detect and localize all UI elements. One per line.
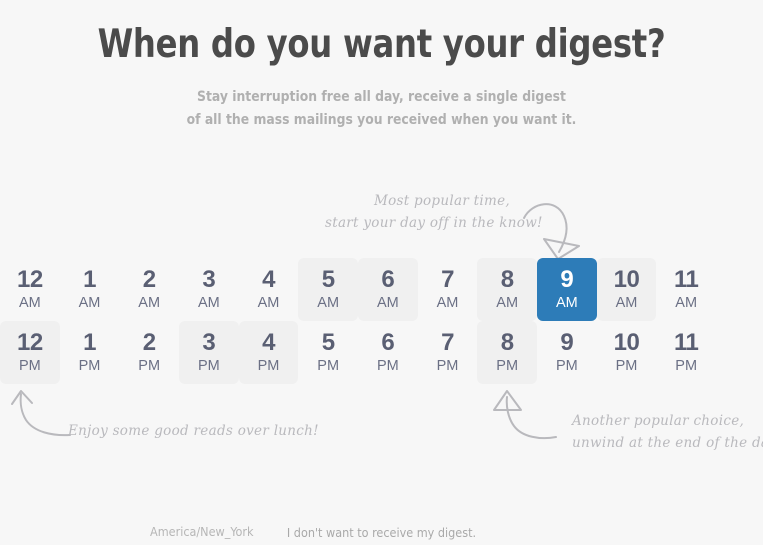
hour-cell-8am[interactable]: 8 AM (477, 258, 537, 321)
hour-cell-4pm[interactable]: 4 PM (239, 321, 299, 384)
hour-cell-12am[interactable]: 12 AM (0, 258, 60, 321)
digest-time-picker-page: When do you want your digest? Stay inter… (0, 0, 763, 545)
hour-cell-5am[interactable]: 5 AM (298, 258, 358, 321)
hour-meridiem: PM (496, 356, 518, 375)
hour-cell-2pm[interactable]: 2 PM (119, 321, 179, 384)
hour-meridiem: PM (19, 356, 41, 375)
hour-number: 1 (83, 330, 96, 356)
annotation-most-popular-line-1: Most popular time, (325, 190, 510, 212)
hour-number: 2 (143, 267, 156, 293)
hour-meridiem: AM (138, 293, 160, 312)
hour-cell-7am[interactable]: 7 AM (418, 258, 478, 321)
hour-number: 9 (560, 330, 573, 356)
hour-meridiem: PM (616, 356, 638, 375)
hour-number: 10 (614, 267, 640, 293)
curved-arrow-up-icon (484, 388, 560, 446)
hour-meridiem: PM (317, 356, 339, 375)
hour-meridiem: PM (437, 356, 459, 375)
hour-number: 3 (202, 330, 215, 356)
hour-cell-3am[interactable]: 3 AM (179, 258, 239, 321)
hour-cell-11pm[interactable]: 11 PM (656, 321, 716, 384)
hour-meridiem: AM (79, 293, 101, 312)
annotation-lunch: Enjoy some good reads over lunch! (68, 420, 319, 442)
hour-cell-6am[interactable]: 6 AM (358, 258, 418, 321)
hour-meridiem: AM (496, 293, 518, 312)
decline-digest-link[interactable]: I don't want to receive my digest. (0, 525, 763, 540)
annotation-evening: Another popular choice, unwind at the en… (572, 410, 763, 454)
hour-meridiem: PM (377, 356, 399, 375)
hour-number: 8 (501, 267, 514, 293)
hour-meridiem: PM (556, 356, 578, 375)
hour-meridiem: AM (19, 293, 41, 312)
hour-cell-12pm[interactable]: 12 PM (0, 321, 60, 384)
hour-number: 1 (83, 267, 96, 293)
hour-cell-10pm[interactable]: 10 PM (597, 321, 657, 384)
hour-meridiem: AM (556, 293, 578, 312)
hour-number: 9 (560, 267, 573, 293)
hour-meridiem: AM (377, 293, 399, 312)
hour-cell-4am[interactable]: 4 AM (239, 258, 299, 321)
hour-number: 4 (262, 330, 275, 356)
annotation-evening-line-2: unwind at the end of the day. (572, 432, 763, 454)
hour-number: 4 (262, 267, 275, 293)
hour-meridiem: AM (437, 293, 459, 312)
curved-arrow-up-left-icon (8, 388, 74, 444)
hour-number: 7 (441, 330, 454, 356)
hour-number: 7 (441, 267, 454, 293)
hour-number: 8 (501, 330, 514, 356)
annotation-lunch-line-1: Enjoy some good reads over lunch! (68, 420, 319, 442)
footer: America/New_York I don't want to receive… (0, 524, 763, 545)
hour-meridiem: AM (198, 293, 220, 312)
hour-meridiem: AM (317, 293, 339, 312)
page-subtitle: Stay interruption free all day, receive … (19, 68, 744, 132)
hour-meridiem: AM (616, 293, 638, 312)
subtitle-line-1: Stay interruption free all day, receive … (19, 86, 744, 109)
hour-meridiem: PM (138, 356, 160, 375)
hour-cell-9pm[interactable]: 9 PM (537, 321, 597, 384)
hour-cell-11am[interactable]: 11 AM (656, 258, 716, 321)
page-title: When do you want your digest? (31, 0, 733, 68)
subtitle-line-2: of all the mass mailings you received wh… (19, 109, 744, 132)
hour-meridiem: PM (675, 356, 697, 375)
header: When do you want your digest? Stay inter… (0, 0, 763, 132)
hour-number: 12 (17, 267, 43, 293)
hour-number: 12 (17, 330, 43, 356)
hour-number: 11 (674, 267, 698, 293)
hour-cell-1am[interactable]: 1 AM (60, 258, 120, 321)
annotation-most-popular: Most popular time, start your day off in… (325, 190, 510, 234)
annotation-most-popular-line-2: start your day off in the know! (325, 212, 510, 234)
hour-number: 6 (381, 330, 394, 356)
hour-number: 3 (202, 267, 215, 293)
hour-meridiem: PM (198, 356, 220, 375)
hour-cell-5pm[interactable]: 5 PM (298, 321, 358, 384)
hour-cell-9am[interactable]: 9 AM (537, 258, 597, 321)
hour-meridiem: PM (79, 356, 101, 375)
hour-number: 6 (381, 267, 394, 293)
hour-grid[interactable]: 12 AM 1 AM 2 AM 3 AM 4 AM 5 AM 6 AM 7 AM (0, 258, 716, 384)
hour-number: 5 (322, 330, 335, 356)
hour-cell-2am[interactable]: 2 AM (119, 258, 179, 321)
hour-meridiem: AM (675, 293, 697, 312)
hour-cell-3pm[interactable]: 3 PM (179, 321, 239, 384)
hour-meridiem: PM (258, 356, 280, 375)
hour-cell-7pm[interactable]: 7 PM (418, 321, 478, 384)
hour-number: 10 (614, 330, 640, 356)
hour-cell-6pm[interactable]: 6 PM (358, 321, 418, 384)
hour-cell-8pm[interactable]: 8 PM (477, 321, 537, 384)
hour-number: 11 (674, 330, 698, 356)
hour-cell-1pm[interactable]: 1 PM (60, 321, 120, 384)
hour-number: 5 (322, 267, 335, 293)
hour-meridiem: AM (258, 293, 280, 312)
annotation-evening-line-1: Another popular choice, (572, 410, 763, 432)
hour-cell-10am[interactable]: 10 AM (597, 258, 657, 321)
hour-number: 2 (143, 330, 156, 356)
